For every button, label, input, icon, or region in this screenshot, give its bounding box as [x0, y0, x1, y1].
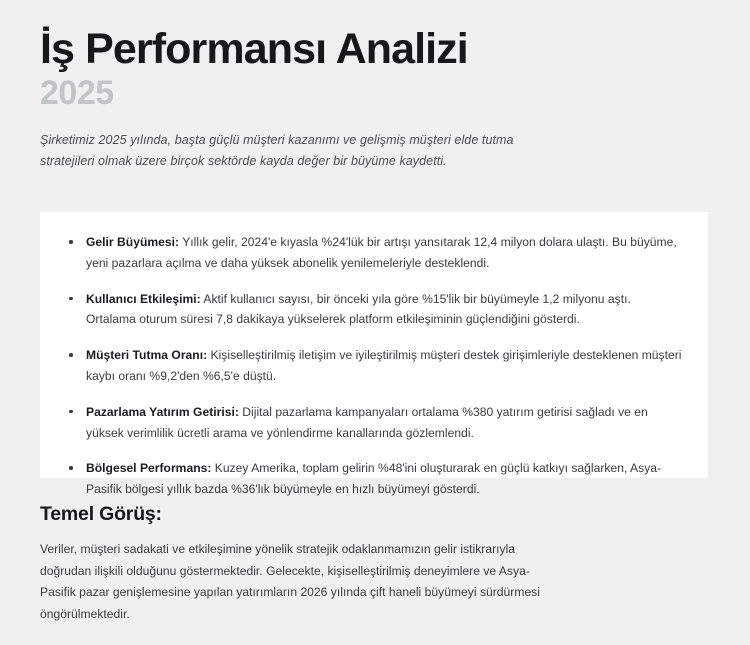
bullet-dot-icon — [69, 353, 73, 357]
list-item: Pazarlama Yatırım Getirisi: Dijital paza… — [64, 402, 684, 444]
bullet-dot-icon — [69, 240, 73, 244]
report-header: İş Performansı Analizi 2025 Şirketimiz 2… — [0, 0, 750, 173]
bullet-dot-icon — [69, 466, 73, 470]
key-insight-text: Veriler, müşteri sadakati ve etkileşimin… — [40, 539, 552, 625]
highlights-card: Gelir Büyümesi: Yıllık gelir, 2024'e kıy… — [40, 212, 708, 478]
list-item: Bölgesel Performans: Kuzey Amerika, topl… — [64, 458, 684, 500]
bullet-dot-icon — [69, 410, 73, 414]
list-item: Müşteri Tutma Oranı: Kişiselleştirilmiş … — [64, 345, 684, 387]
list-item-label: Gelir Büyümesi: — [86, 235, 179, 249]
report-subtitle: Şirketimiz 2025 yılında, başta güçlü müş… — [40, 130, 535, 174]
list-item: Gelir Büyümesi: Yıllık gelir, 2024'e kıy… — [64, 232, 684, 274]
list-item-label: Kullanıcı Etkileşimi: — [86, 292, 201, 306]
highlights-list: Gelir Büyümesi: Yıllık gelir, 2024'e kıy… — [64, 232, 684, 500]
key-insight-section: Temel Görüş: Veriler, müşteri sadakati v… — [40, 503, 570, 625]
list-item-label: Müşteri Tutma Oranı: — [86, 348, 207, 362]
page-title: İş Performansı Analizi — [40, 26, 710, 72]
report-year: 2025 — [40, 74, 710, 112]
list-item-label: Bölgesel Performans: — [86, 461, 211, 475]
bullet-dot-icon — [69, 297, 73, 301]
key-insight-heading: Temel Görüş: — [40, 503, 570, 526]
list-item: Kullanıcı Etkileşimi: Aktif kullanıcı sa… — [64, 289, 684, 331]
list-item-label: Pazarlama Yatırım Getirisi: — [86, 405, 239, 419]
report-page: İş Performansı Analizi 2025 Şirketimiz 2… — [0, 0, 750, 645]
